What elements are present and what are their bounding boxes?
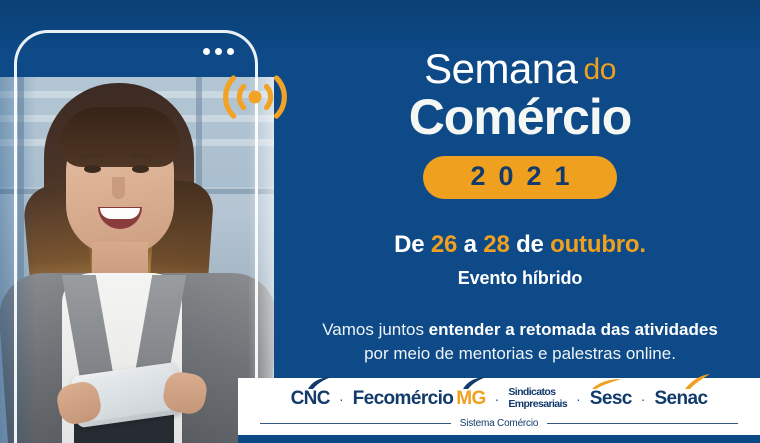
- logo-sindicatos-line2: Empresariais: [508, 399, 567, 411]
- date-joiner: a: [464, 231, 477, 258]
- date-prefix: De: [394, 231, 424, 258]
- photo-vignette-left: [0, 77, 36, 443]
- date-start: 26: [431, 231, 457, 258]
- footer-bottom-strip: [238, 435, 760, 443]
- logo-cnc[interactable]: CNC: [291, 388, 330, 410]
- event-format: Evento híbrido: [290, 259, 750, 289]
- logo-row: CNC · Fecomércio MG · Sindicatos Empresa…: [238, 384, 760, 414]
- rule-left: [260, 423, 451, 424]
- date-end: 28: [483, 231, 509, 258]
- logo-sindicatos-lines: Sindicatos Empresariais: [508, 387, 567, 411]
- dot: [227, 48, 234, 55]
- teeth: [100, 208, 140, 219]
- logo-fecomercio-text: Fecomércio: [353, 388, 454, 410]
- logo-fecomercio-mg: MG: [456, 388, 485, 410]
- logo-separator: ·: [495, 392, 500, 406]
- date-month-prefix: de: [516, 231, 544, 258]
- headline-line-1: Semanado: [290, 0, 750, 90]
- hair-fringe: [60, 107, 180, 167]
- eye-right: [132, 165, 149, 173]
- dot: [215, 48, 222, 55]
- year-badge: 2021: [423, 156, 616, 199]
- system-label: Sistema Comércio: [460, 418, 539, 429]
- logo-cnc-text: CNC: [291, 388, 330, 410]
- logo-fecomercio[interactable]: Fecomércio MG: [353, 388, 486, 410]
- logo-sesc-text: Sesc: [590, 388, 632, 410]
- logo-separator: ·: [576, 392, 581, 406]
- logo-sesc[interactable]: Sesc: [590, 388, 632, 410]
- speaker-photo: [0, 77, 274, 443]
- eye-left: [84, 165, 101, 173]
- logo-separator: ·: [339, 392, 344, 406]
- nose: [112, 177, 125, 199]
- broadcast-wifi-icon: [222, 66, 288, 128]
- event-description: Vamos juntos entender a retomada das ati…: [290, 289, 750, 367]
- description-lead: Vamos juntos: [322, 320, 424, 339]
- person-figure: [0, 77, 274, 443]
- headline-semana: Semana: [424, 45, 577, 92]
- logo-senac-text: Senac: [654, 388, 707, 410]
- logo-sindicatos-empresariais[interactable]: Sindicatos Empresariais: [508, 387, 567, 411]
- rule-right: [547, 423, 738, 424]
- logo-senac[interactable]: Senac: [654, 388, 707, 410]
- promotional-banner: Semanado Comércio 2021 De 26 a 28 de out…: [0, 0, 760, 443]
- event-date: De 26 a 28 de outubro.: [290, 199, 750, 259]
- system-label-row: Sistema Comércio: [260, 418, 738, 429]
- dot: [203, 48, 210, 55]
- headline-do: do: [584, 53, 616, 86]
- partner-logo-bar: CNC · Fecomércio MG · Sindicatos Empresa…: [238, 378, 760, 435]
- description-tail: por meio de mentorias e palestras online…: [364, 344, 676, 363]
- phone-menu-dots-icon: [203, 48, 234, 55]
- banner-content: Semanado Comércio 2021 De 26 a 28 de out…: [290, 0, 750, 378]
- date-month: outubro.: [550, 231, 646, 258]
- logo-separator: ·: [641, 392, 646, 406]
- headline-line-2: Comércio: [290, 90, 750, 143]
- description-emphasis: entender a retomada das atividades: [429, 320, 718, 339]
